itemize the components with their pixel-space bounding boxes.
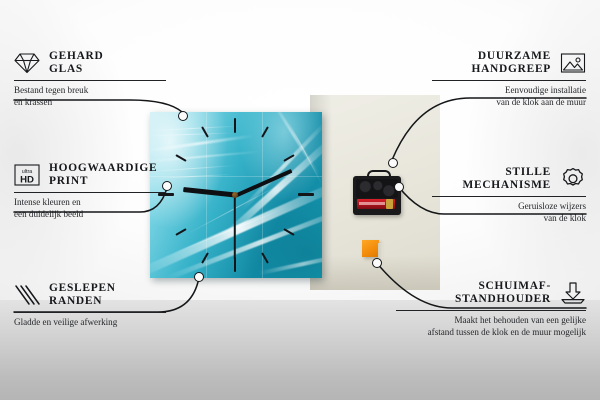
- feature-stille-mechanisme: STILLE MECHANISME Geruisloze wijzers van…: [432, 166, 586, 224]
- feature-subtitle: Geruisloze wijzers van de klok: [432, 201, 586, 224]
- ultra-hd-icon: ultra HD: [14, 163, 40, 187]
- feature-title: GESLEPEN RANDEN: [49, 282, 116, 308]
- ultra-hd-icon-hd-text: HD: [20, 175, 34, 186]
- bevelled-edges-icon: [14, 283, 40, 307]
- feature-title: GEHARD GLAS: [49, 50, 104, 76]
- infographic-canvas: GEHARD GLAS Bestand tegen breuk en krass…: [0, 0, 600, 400]
- connector-dot-schuimaf: [372, 258, 382, 268]
- feature-title: DUURZAME HANDGREEP: [471, 50, 551, 76]
- battery-plus-terminal: [386, 199, 393, 209]
- feature-title: STILLE MECHANISME: [462, 166, 551, 192]
- feature-divider: [14, 312, 166, 313]
- feature-subtitle: Maakt het behouden van een gelijke afsta…: [396, 315, 586, 338]
- feature-geslepen-randen: GESLEPEN RANDEN Gladde en veilige afwerk…: [14, 282, 166, 329]
- foam-spacer-pad: [362, 240, 379, 257]
- clock-hands: [150, 112, 322, 278]
- feature-divider: [14, 192, 166, 193]
- feature-title: SCHUIMAF- STANDHOUDER: [455, 280, 551, 306]
- clock-mechanism: [353, 170, 401, 215]
- diamond-icon: [14, 51, 40, 75]
- glass-wall-clock: [150, 112, 322, 278]
- product-photo: [150, 95, 440, 290]
- framed-picture-icon: [560, 51, 586, 75]
- feature-schuimaf-standhouder: SCHUIMAF- STANDHOUDER Maakt het behouden…: [396, 280, 586, 338]
- feature-subtitle: Eenvoudige installatie van de klok aan d…: [432, 85, 586, 108]
- connector-dot-stille-mechanisme: [394, 182, 404, 192]
- connector-dot-duurzame-handgreep: [388, 158, 398, 168]
- feature-subtitle: Bestand tegen breuk en krassen: [14, 85, 166, 108]
- feature-divider: [396, 310, 586, 311]
- mechanism-detail: [356, 179, 398, 198]
- clock-hand-minute: [234, 169, 292, 198]
- feature-divider: [432, 196, 586, 197]
- clock-hand-second: [234, 196, 236, 260]
- feature-hoogwaardige-print: ultra HD HOOGWAARDIGE PRINT Intense kleu…: [14, 162, 166, 220]
- feature-divider: [14, 80, 166, 81]
- feature-subtitle: Intense kleuren en een duidelijk beeld: [14, 197, 166, 220]
- spacer-arrow-icon: [560, 281, 586, 305]
- foam-spacer-pad-side: [378, 243, 383, 259]
- connector-dot-geslepen-randen: [194, 272, 204, 282]
- gear-icon: [560, 167, 586, 191]
- clock-hand-hour: [183, 188, 235, 198]
- feature-subtitle: Gladde en veilige afwerking: [14, 317, 166, 328]
- connector-dot-gehard-glas: [178, 111, 188, 121]
- feature-divider: [432, 80, 586, 81]
- feature-gehard-glas: GEHARD GLAS Bestand tegen breuk en krass…: [14, 50, 166, 108]
- battery-label: [359, 202, 385, 205]
- feature-title: HOOGWAARDIGE PRINT: [49, 162, 157, 188]
- clock-center-cap: [232, 192, 238, 198]
- feature-duurzame-handgreep: DUURZAME HANDGREEP Eenvoudige installati…: [432, 50, 586, 108]
